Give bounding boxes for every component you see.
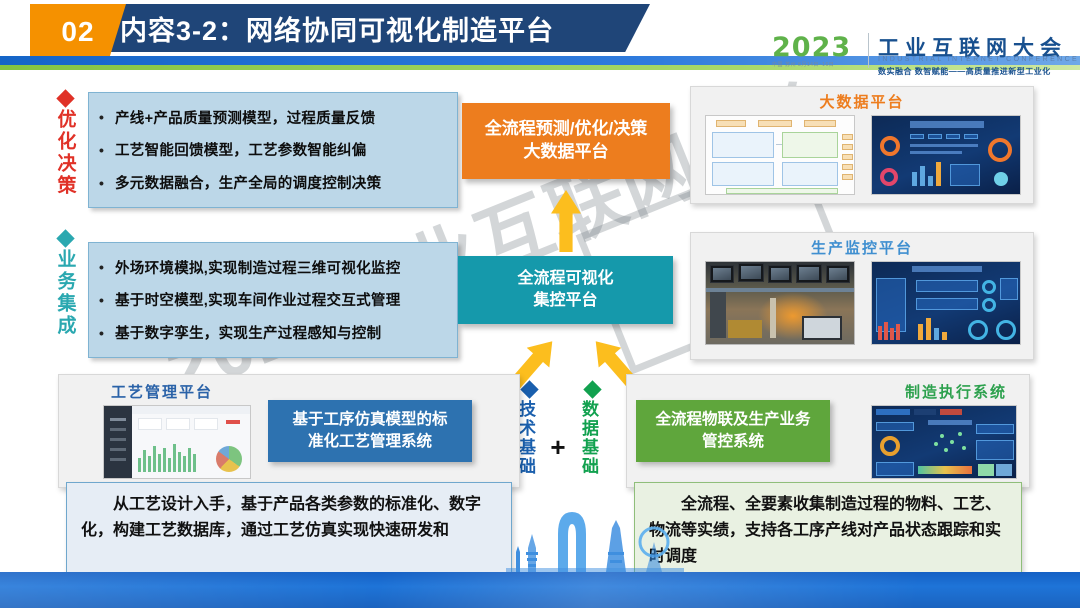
bullet-text: 外场环境模拟,实现制造过程三维可视化监控 [115,257,451,278]
panel-process-title: 工艺管理平台 [59,381,519,402]
slide-root: 02 内容3-2：网络协同可视化制造平台 2023 中国·苏州 8月14日–16… [0,0,1080,608]
label-optimization-decision: 优化决策 [48,92,82,202]
list-item: • 产线+产品质量预测模型，过程质量反馈 [99,107,451,128]
visual-box-line1: 全流程可视化 [517,270,613,287]
list-item: • 外场环境模拟,实现制造过程三维可视化监控 [99,257,451,278]
bullet-text: 多元数据融合，生产全局的调度控制决策 [115,172,451,193]
diamond-icon [56,229,74,247]
logo-year: 2023 [772,32,851,63]
plus-symbol: + [545,432,571,463]
process-system-box: 基于工序仿真模型的标 准化工艺管理系统 [268,400,472,462]
bullet-dot-icon: • [99,260,115,274]
mes-box-line2: 管控系统 [702,433,764,450]
foundation-data-text: 数据基础 [576,400,601,476]
foundation-data: 数据基础 [576,383,608,476]
conference-logo: 2023 中国·苏州 8月14日–16日 工业互联网大会 INDUSTRIAL … [764,32,1074,80]
diamond-icon [520,380,538,398]
bigdata-platform-box: 全流程预测/优化/决策 大数据平台 [462,103,670,179]
panel-monitoring-title: 生产监控平台 [691,237,1033,258]
screenshot-mes-dashboard [871,405,1017,479]
city-skyline-graphic [506,508,684,572]
screenshot-bigdata-architecture [705,115,855,195]
page-title: 内容3-2：网络协同可视化制造平台 [120,6,554,50]
logo-divider [868,33,869,68]
screenshot-process-management [103,405,251,479]
bullet-dot-icon: • [99,176,115,190]
logo-year-subtitle: 中国·苏州 8月14日–16日 [772,61,834,68]
bullet-text: 基于数字孪生，实现生产过程感知与控制 [115,322,451,343]
visual-box-line2: 集控平台 [533,292,597,309]
label-optimization-text: 优化决策 [52,109,79,197]
panel-mes-title: 制造执行系统 [627,381,1029,402]
list-item: • 多元数据融合，生产全局的调度控制决策 [99,172,451,193]
label-business-text: 业务集成 [52,249,79,337]
process-box-line2: 准化工艺管理系统 [308,433,432,450]
mes-system-box: 全流程物联及生产业务 管控系统 [636,400,830,462]
description-process-text: 从工艺设计入手，基于产品各类参数的标准化、数字化，构建工艺数据库，通过工艺仿真实… [81,492,497,544]
bullet-panel-optimization: • 产线+产品质量预测模型，过程质量反馈 • 工艺智能回馈模型，工艺参数智能纠偏… [88,92,458,208]
bullet-panel-business: • 外场环境模拟,实现制造过程三维可视化监控 • 基于时空模型,实现车间作业过程… [88,242,458,358]
bullet-text: 产线+产品质量预测模型，过程质量反馈 [115,107,451,128]
bigdata-box-line2: 大数据平台 [523,142,608,161]
panel-bigdata-title: 大数据平台 [691,91,1033,112]
photo-workshop-monitoring [705,261,855,345]
visual-control-platform-box: 全流程可视化 集控平台 [458,256,673,324]
diamond-icon [56,89,74,107]
screenshot-bigdata-dashboard [871,115,1021,195]
bigdata-box-line1: 全流程预测/优化/决策 [485,119,647,138]
list-item: • 基于数字孪生，实现生产过程感知与控制 [99,322,451,343]
list-item: • 工艺智能回馈模型，工艺参数智能纠偏 [99,139,451,160]
panel-bigdata-platform: 大数据平台 [690,86,1034,204]
bullet-dot-icon: • [99,110,115,124]
process-box-line1: 基于工序仿真模型的标 [292,411,447,428]
mes-box-line1: 全流程物联及生产业务 [655,411,810,428]
slide-footer [0,572,1080,608]
footer-sheen [0,572,1080,608]
bullet-dot-icon: • [99,143,115,157]
list-item: • 基于时空模型,实现车间作业过程交互式管理 [99,289,451,310]
label-business-integration: 业务集成 [48,232,82,342]
arrow-up-icon [551,190,581,252]
logo-slogan: 数实融合 数智赋能——高质量推进新型工业化 [878,66,1051,77]
diamond-icon [583,380,601,398]
bullet-dot-icon: • [99,293,115,307]
bullet-text: 基于时空模型,实现车间作业过程交互式管理 [115,289,451,310]
logo-name-en: INDUSTRIAL INTERNET CONFERENCE [878,56,1079,63]
panel-production-monitoring: 生产监控平台 [690,232,1034,360]
bullet-dot-icon: • [99,326,115,340]
screenshot-monitoring-dashboard [871,261,1021,345]
description-mes-text: 全流程、全要素收集制造过程的物料、工艺、物流等实绩，支持各工序产线对产品状态跟踪… [649,492,1007,570]
bullet-text: 工艺智能回馈模型，工艺参数智能纠偏 [115,139,451,160]
